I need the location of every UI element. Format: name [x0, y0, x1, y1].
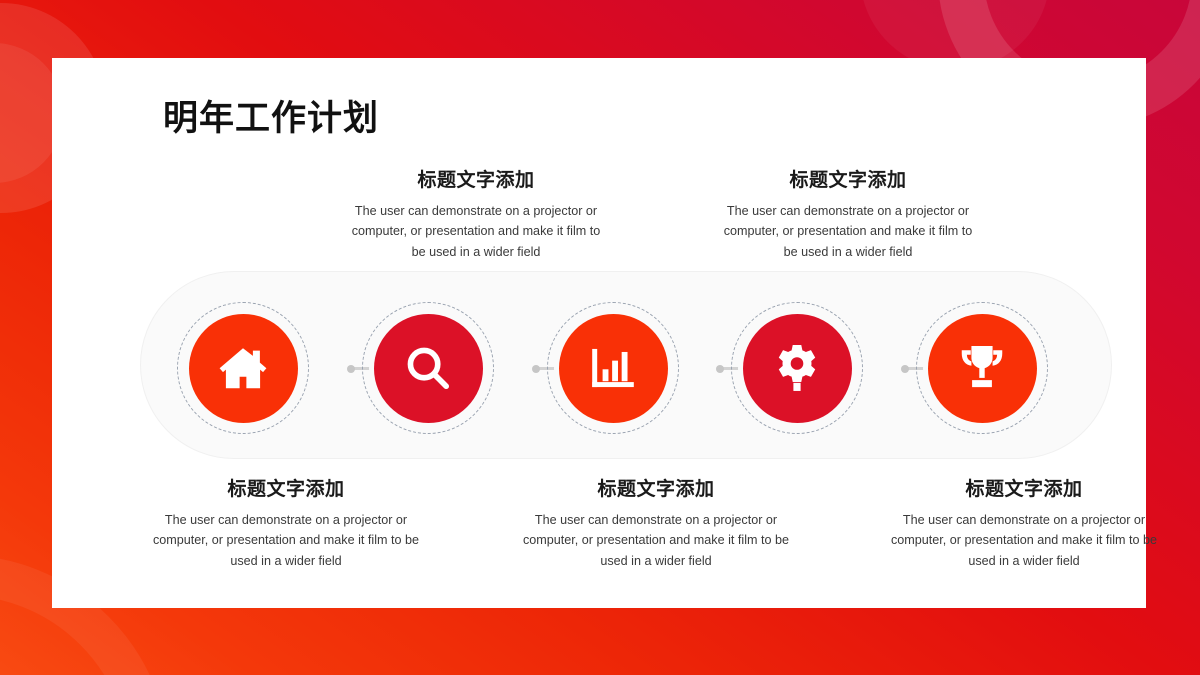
home-icon	[216, 341, 270, 395]
text-block-bottom-1: 标题文字添加 The user can demonstrate on a pro…	[152, 474, 420, 571]
gear-icon	[770, 341, 824, 395]
text-block-title: 标题文字添加	[722, 165, 974, 192]
search-icon	[402, 342, 454, 394]
content-card: 明年工作计划 标题文字添加 The user can demonstrate o…	[52, 58, 1146, 608]
text-block-top-2: 标题文字添加 The user can demonstrate on a pro…	[722, 165, 974, 262]
text-block-body: The user can demonstrate on a projector …	[890, 510, 1158, 571]
process-node-4[interactable]	[731, 302, 863, 434]
node-circle	[743, 314, 852, 423]
slide-canvas: 明年工作计划 标题文字添加 The user can demonstrate o…	[0, 0, 1200, 675]
process-node-1[interactable]	[177, 302, 309, 434]
node-circle	[189, 314, 298, 423]
text-block-title: 标题文字添加	[890, 474, 1158, 501]
node-circle	[928, 314, 1037, 423]
process-node-5[interactable]	[916, 302, 1048, 434]
text-block-body: The user can demonstrate on a projector …	[522, 510, 790, 571]
node-circle	[374, 314, 483, 423]
text-block-body: The user can demonstrate on a projector …	[350, 201, 602, 262]
bar-chart-icon	[587, 342, 639, 394]
page-title: 明年工作计划	[163, 90, 379, 141]
text-block-title: 标题文字添加	[350, 165, 602, 192]
text-block-bottom-3: 标题文字添加 The user can demonstrate on a pro…	[890, 474, 1158, 571]
process-node-3[interactable]	[547, 302, 679, 434]
text-block-bottom-2: 标题文字添加 The user can demonstrate on a pro…	[522, 474, 790, 571]
node-circle	[559, 314, 668, 423]
text-block-body: The user can demonstrate on a projector …	[152, 510, 420, 571]
text-block-title: 标题文字添加	[152, 474, 420, 501]
trophy-icon	[955, 341, 1009, 395]
text-block-title: 标题文字添加	[522, 474, 790, 501]
text-block-top-1: 标题文字添加 The user can demonstrate on a pro…	[350, 165, 602, 262]
process-node-2[interactable]	[362, 302, 494, 434]
text-block-body: The user can demonstrate on a projector …	[722, 201, 974, 262]
